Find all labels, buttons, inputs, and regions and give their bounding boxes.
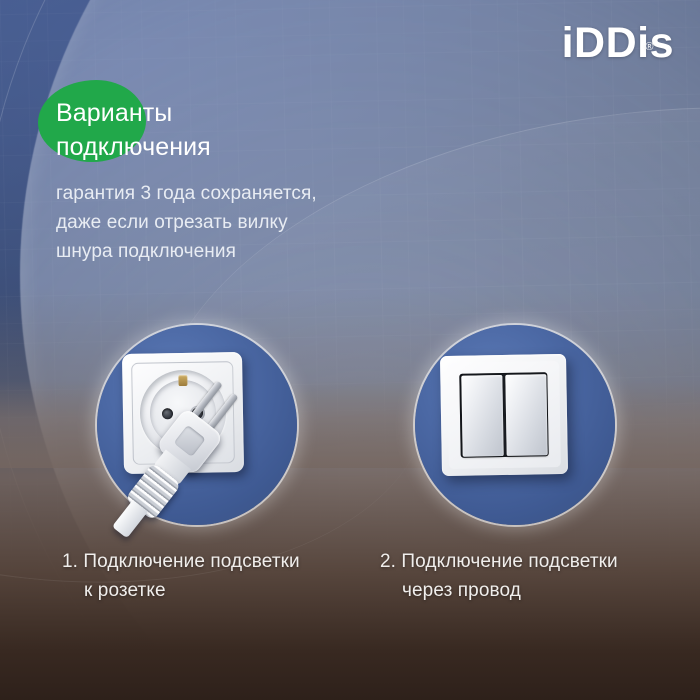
switch-rocker-right xyxy=(505,374,547,456)
product-illustration-socket xyxy=(97,325,297,525)
plug-face-panel xyxy=(174,425,206,457)
light-switch-icon xyxy=(440,354,568,476)
page-title-line-2: подключения xyxy=(56,130,476,164)
socket-ground-clip-top xyxy=(178,375,187,386)
product-caption-socket-line-1: 1. Подключение подсветки xyxy=(62,548,362,577)
subtitle: гарантия 3 года сохраняется, даже если о… xyxy=(56,180,456,267)
subtitle-line-3: шнура подключения xyxy=(56,238,456,267)
promo-banner: iDDis ® Варианты подключения гарантия 3 … xyxy=(0,0,700,700)
switch-rocker-left xyxy=(461,375,503,457)
brand-logo: iDDis ® xyxy=(562,22,674,65)
registered-trademark-icon: ® xyxy=(645,42,654,53)
page-title-line-1: Варианты xyxy=(56,96,476,130)
subtitle-line-1: гарантия 3 года сохраняется, xyxy=(56,180,456,209)
product-caption-socket-line-2: к розетке xyxy=(62,577,362,606)
switch-rocker-group xyxy=(459,372,548,458)
product-illustration-switch xyxy=(415,325,615,525)
product-caption-socket: 1. Подключение подсветки к розетке xyxy=(62,548,362,605)
product-caption-switch-line-1: 2. Подключение подсветки xyxy=(380,548,690,577)
product-caption-switch-line-2: через провод xyxy=(380,577,690,606)
product-caption-switch: 2. Подключение подсветки через провод xyxy=(380,548,690,605)
brand-logo-text: iDDis xyxy=(562,19,674,67)
socket-pin-hole-left xyxy=(162,408,173,419)
subtitle-line-2: даже если отрезать вилку xyxy=(56,209,456,238)
page-title: Варианты подключения xyxy=(56,96,476,164)
